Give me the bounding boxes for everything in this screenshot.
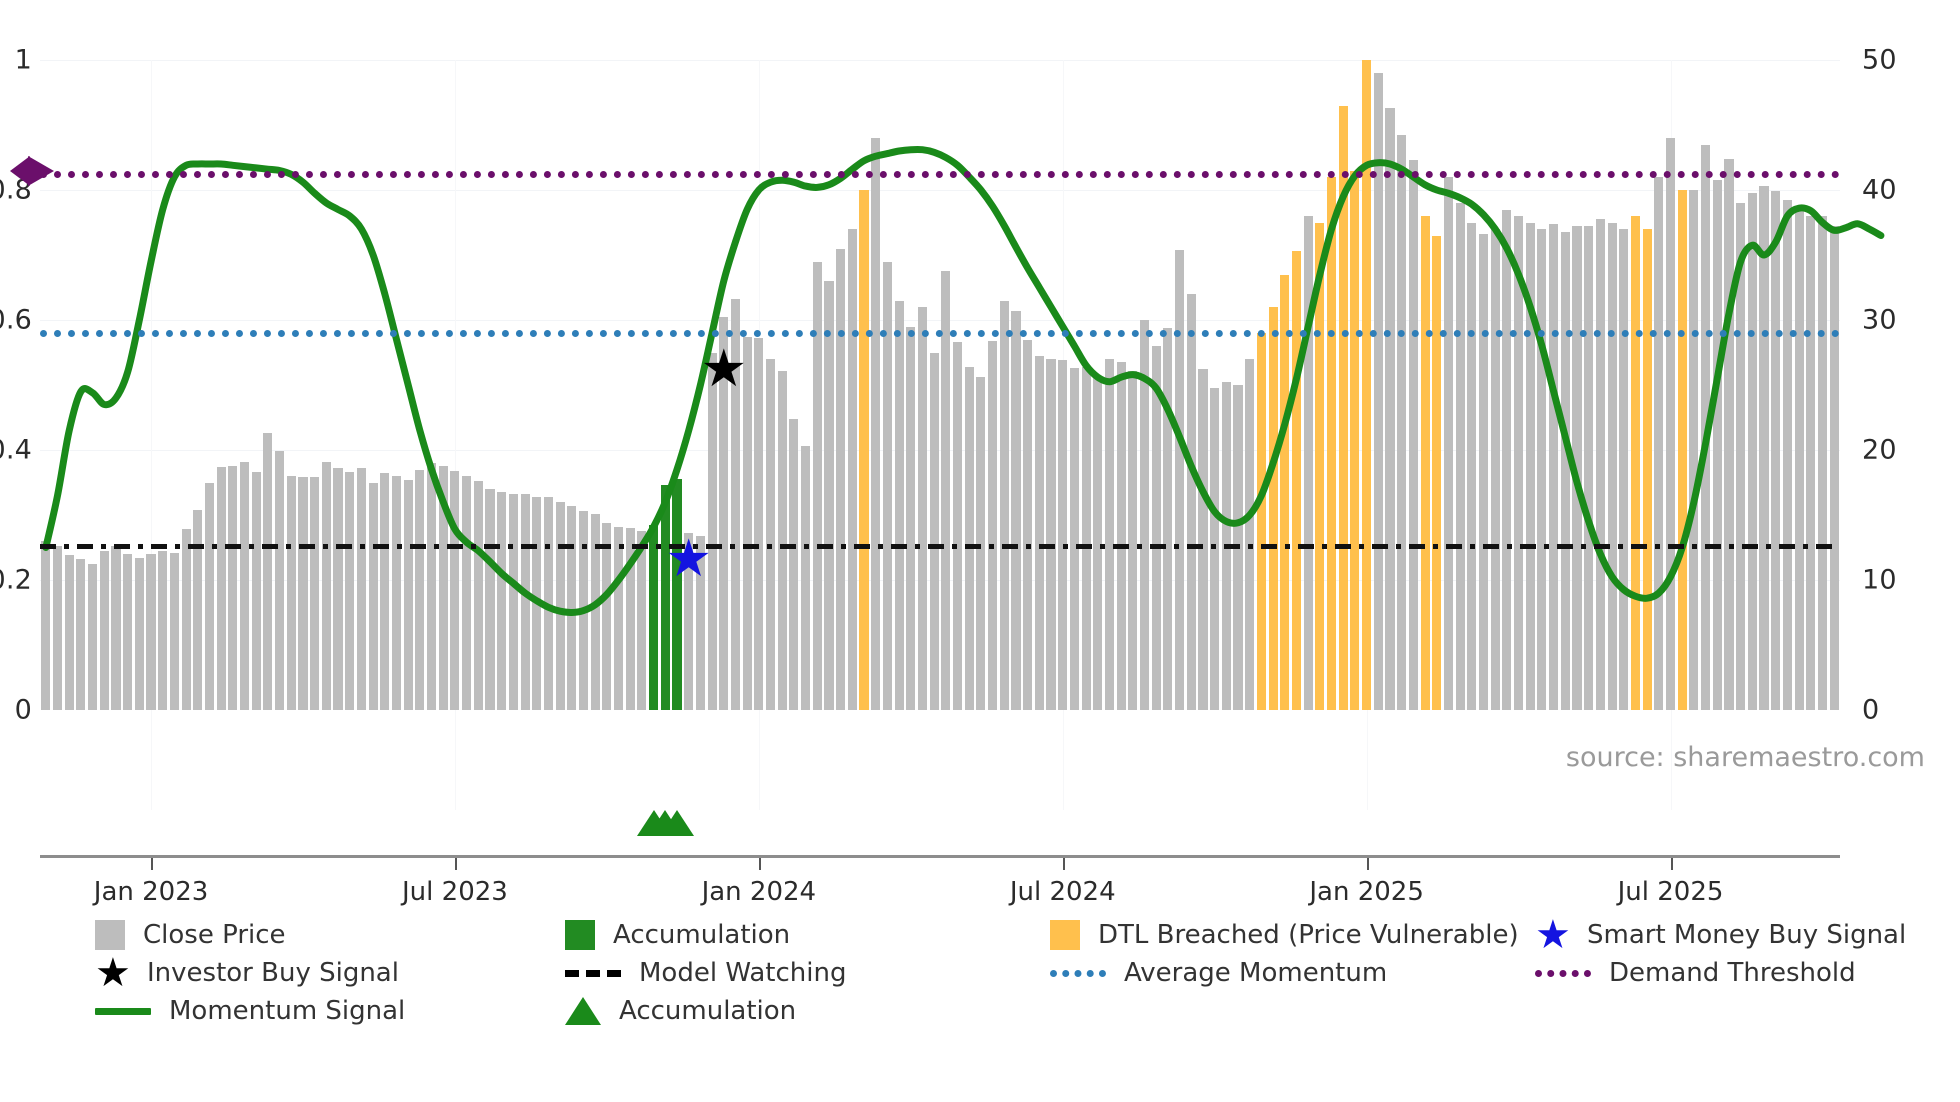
legend-item[interactable]: Accumulation bbox=[565, 920, 790, 950]
source-attribution: source: sharemaestro.com bbox=[1566, 742, 1925, 773]
y-axis-left: 00.20.40.60.81 bbox=[0, 0, 32, 710]
legend-item[interactable]: Average Momentum bbox=[1050, 958, 1387, 988]
y-axis-left-tick: 0.6 bbox=[0, 305, 32, 336]
x-axis-label: Jul 2025 bbox=[1618, 877, 1724, 907]
y-axis-right-tick: 10 bbox=[1862, 565, 1897, 596]
legend-item[interactable]: Model Watching bbox=[565, 958, 846, 988]
x-axis-label: Jan 2025 bbox=[1309, 877, 1424, 907]
legend-triangle-icon bbox=[565, 997, 601, 1025]
legend-star-icon: ★ bbox=[1535, 920, 1569, 950]
x-axis-tick bbox=[1367, 858, 1369, 870]
x-axis-label: Jan 2023 bbox=[94, 877, 209, 907]
y-axis-right-tick: 30 bbox=[1862, 305, 1897, 336]
legend-label: Model Watching bbox=[639, 958, 846, 988]
x-axis-tick bbox=[759, 858, 761, 870]
demand-threshold-start-marker-left bbox=[10, 156, 30, 186]
smart-money-buy-signal-marker: ★ bbox=[665, 533, 712, 585]
legend-dotted-line-icon bbox=[1535, 970, 1591, 977]
x-axis-tick bbox=[151, 858, 153, 870]
legend-label: Accumulation bbox=[619, 996, 796, 1026]
y-axis-right: 01020304050 bbox=[1862, 0, 1942, 710]
legend-line-icon bbox=[95, 1008, 151, 1015]
x-axis-line bbox=[40, 855, 1840, 858]
legend-label: Close Price bbox=[143, 920, 286, 950]
y-axis-left-tick: 0.2 bbox=[0, 565, 32, 596]
y-axis-left-tick: 0.4 bbox=[0, 435, 32, 466]
x-axis-tick bbox=[1671, 858, 1673, 870]
legend-label: DTL Breached (Price Vulnerable) bbox=[1098, 920, 1519, 950]
legend-dashed-line-icon bbox=[565, 970, 621, 977]
legend-label: Accumulation bbox=[613, 920, 790, 950]
legend-item[interactable]: Accumulation bbox=[565, 996, 796, 1026]
y-axis-left-tick: 1 bbox=[15, 45, 32, 76]
x-axis-label: Jan 2024 bbox=[702, 877, 817, 907]
legend-dotted-line-icon bbox=[1050, 970, 1106, 977]
legend-label: Demand Threshold bbox=[1609, 958, 1856, 988]
legend-swatch-square-icon bbox=[95, 920, 125, 950]
investor-buy-signal-marker: ★ bbox=[700, 343, 747, 395]
legend-item[interactable]: Demand Threshold bbox=[1535, 958, 1856, 988]
accumulation-triangle-marker bbox=[660, 810, 694, 836]
y-axis-right-tick: 40 bbox=[1862, 175, 1897, 206]
legend-swatch-square-icon bbox=[565, 920, 595, 950]
legend-item[interactable]: DTL Breached (Price Vulnerable) bbox=[1050, 920, 1519, 950]
legend-star-icon: ★ bbox=[95, 958, 129, 988]
legend-label: Average Momentum bbox=[1124, 958, 1387, 988]
legend-item[interactable]: Close Price bbox=[95, 920, 286, 950]
x-axis-tick bbox=[455, 858, 457, 870]
plot-area: ★★ bbox=[40, 60, 1840, 710]
y-axis-right-tick: 0 bbox=[1862, 695, 1879, 726]
y-axis-left-tick: 0 bbox=[15, 695, 32, 726]
signal-markers: ★★ bbox=[40, 60, 1840, 710]
y-axis-right-tick: 20 bbox=[1862, 435, 1897, 466]
legend-label: Smart Money Buy Signal bbox=[1587, 920, 1906, 950]
legend-label: Momentum Signal bbox=[169, 996, 405, 1026]
legend-item[interactable]: ★Investor Buy Signal bbox=[95, 958, 399, 988]
legend-swatch-square-icon bbox=[1050, 920, 1080, 950]
x-axis-label: Jul 2024 bbox=[1010, 877, 1116, 907]
x-axis-tick bbox=[1063, 858, 1065, 870]
legend-label: Investor Buy Signal bbox=[147, 958, 399, 988]
y-axis-right-tick: 50 bbox=[1862, 45, 1897, 76]
chart-canvas: 00.20.40.60.81 01020304050 ★★ Jan 2023Ju… bbox=[0, 0, 1960, 1102]
legend-item[interactable]: Momentum Signal bbox=[95, 996, 405, 1026]
legend-item[interactable]: ★Smart Money Buy Signal bbox=[1535, 920, 1906, 950]
x-axis-label: Jul 2023 bbox=[402, 877, 508, 907]
